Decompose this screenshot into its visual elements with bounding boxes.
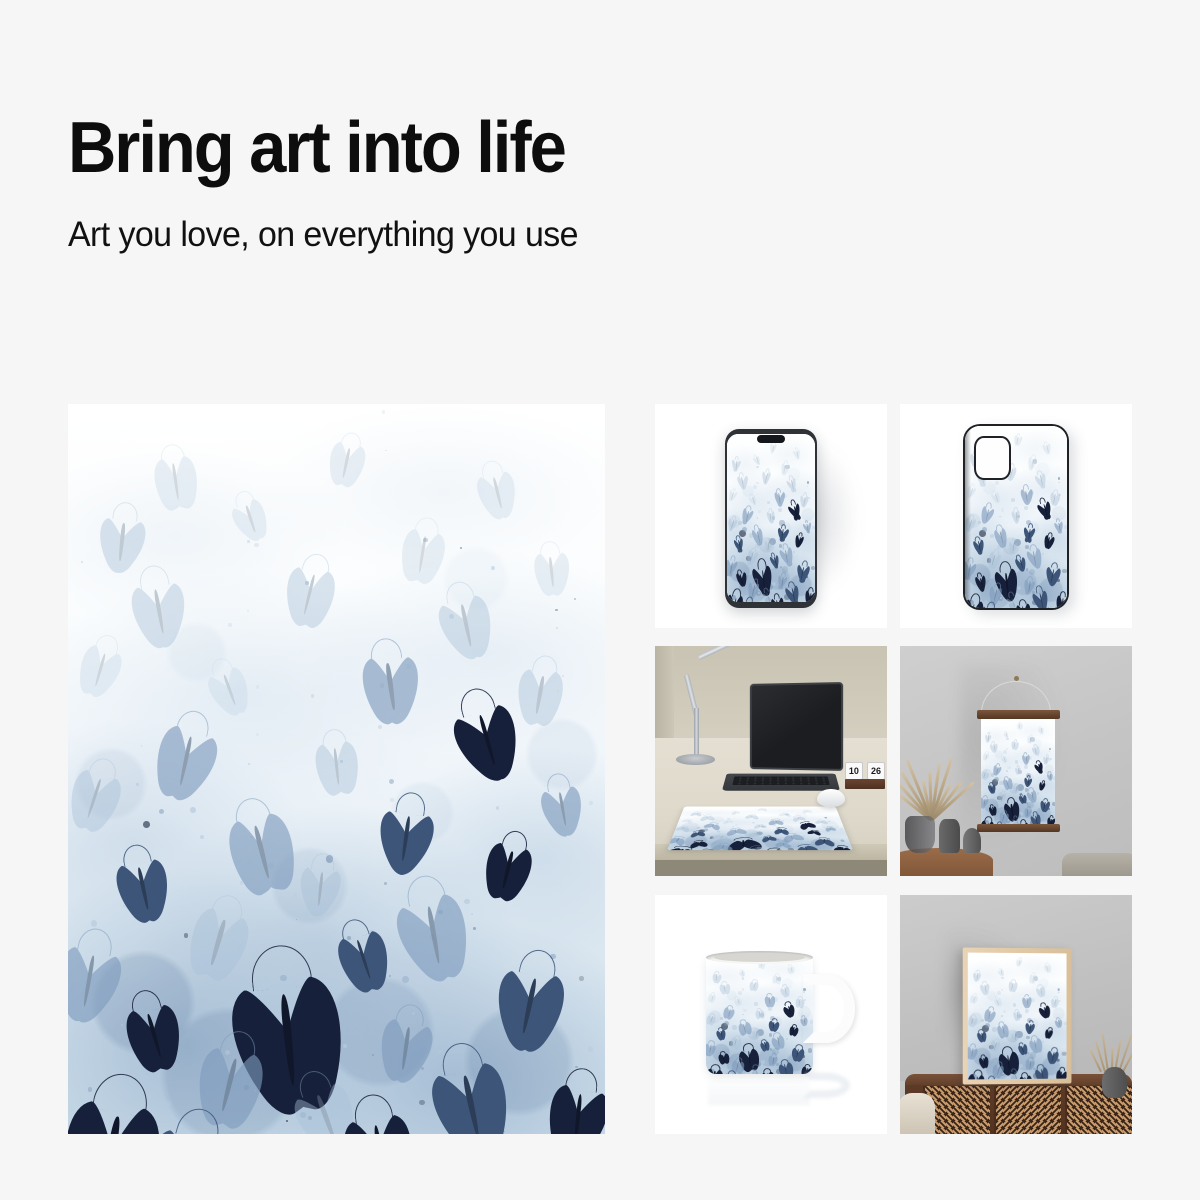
butterfly-artwork xyxy=(706,955,813,1075)
butterfly-motif xyxy=(715,1028,727,1040)
butterfly-motif xyxy=(823,827,838,831)
butterfly-motif xyxy=(374,802,439,872)
glass-vase xyxy=(905,816,935,853)
butterfly-motif xyxy=(752,824,767,828)
butterfly-motif xyxy=(778,833,803,841)
sofa-arm xyxy=(900,1093,935,1134)
butterfly-motif xyxy=(799,810,811,814)
poster-rail-top xyxy=(977,710,1060,719)
butterfly-motif xyxy=(1008,540,1017,553)
mockup-tile-framed-poster[interactable] xyxy=(900,895,1132,1134)
mockup-tile-desk-mat[interactable]: 10 26 xyxy=(655,646,887,876)
flip-calendar: 10 26 xyxy=(845,761,884,789)
butterfly-motif xyxy=(433,589,498,659)
dynamic-island xyxy=(757,435,785,443)
butterfly-motif xyxy=(711,972,721,982)
butterfly-motif xyxy=(736,1020,752,1035)
butterfly-motif xyxy=(1026,789,1038,802)
butterfly-motif xyxy=(1011,509,1021,523)
butterfly-motif xyxy=(530,548,572,594)
desk-mat-product xyxy=(667,807,853,851)
desk-scene: 10 26 xyxy=(655,646,887,876)
butterfly-motif xyxy=(1010,1032,1019,1041)
butterfly-motif xyxy=(789,816,806,821)
poster-sheet xyxy=(981,718,1055,825)
sofa xyxy=(1062,853,1132,876)
page-title: Bring art into life xyxy=(68,112,905,184)
phone-case xyxy=(963,424,1070,610)
butterfly-motif xyxy=(1013,785,1020,793)
framed-poster-product xyxy=(962,947,1071,1084)
butterfly-motif xyxy=(1017,1074,1032,1079)
ceramic-vase xyxy=(939,819,960,854)
mockup-grid: 10 26 xyxy=(655,404,1132,1134)
butterfly-artwork xyxy=(68,404,605,1134)
side-button xyxy=(1067,488,1069,504)
butterfly-motif xyxy=(356,648,424,721)
lamp-base xyxy=(676,754,715,765)
framed-poster-scene xyxy=(900,895,1132,1134)
butterfly-motif xyxy=(736,474,748,490)
page-subtitle: Art you love, on everything you use xyxy=(68,216,941,255)
butterfly-motif xyxy=(774,842,793,848)
hanging-poster-product xyxy=(981,710,1055,832)
butterfly-motif xyxy=(805,590,815,602)
hanging-poster-scene xyxy=(900,646,1132,876)
butterfly-motif xyxy=(774,491,786,507)
poster-rail-bottom xyxy=(977,824,1060,833)
butterfly-motif xyxy=(790,1045,806,1060)
butterfly-motif xyxy=(975,1030,987,1042)
butterfly-motif xyxy=(754,1009,764,1018)
butterfly-motif xyxy=(716,1051,730,1064)
butterfly-motif xyxy=(1006,979,1017,991)
butterfly-motif xyxy=(537,780,588,835)
butterfly-motif xyxy=(748,980,760,991)
ceramic-vase xyxy=(1102,1067,1128,1098)
butterfly-motif xyxy=(777,526,788,542)
under-desk-shadow xyxy=(655,860,887,876)
mug-product xyxy=(706,955,813,1075)
mockup-tile-phone-wallpaper[interactable] xyxy=(655,404,887,628)
butterfly-motif xyxy=(1043,1027,1054,1038)
butterfly-motif xyxy=(1028,974,1038,984)
laptop-keyboard xyxy=(722,774,840,791)
mug-handle xyxy=(803,974,854,1043)
butterfly-motif xyxy=(1033,1065,1050,1080)
mockup-tile-hanging-poster[interactable] xyxy=(900,646,1132,876)
calendar-month: 26 xyxy=(867,762,884,780)
butterfly-motif xyxy=(512,663,569,724)
butterfly-motif xyxy=(1021,754,1030,765)
butterfly-motif xyxy=(752,1030,761,1039)
butterfly-motif xyxy=(764,540,772,552)
butterfly-motif xyxy=(803,521,812,533)
mockup-tile-phone-case[interactable] xyxy=(900,404,1132,628)
mug-scene xyxy=(655,895,887,1134)
phone-scene xyxy=(655,404,887,628)
mug-reflection xyxy=(708,1074,810,1105)
butterfly-motif xyxy=(983,1007,997,1021)
lamp-stem xyxy=(694,708,699,756)
poster-sheet xyxy=(967,952,1066,1079)
dried-grass xyxy=(1097,1031,1125,1072)
phone-device xyxy=(725,429,818,608)
butterfly-motif xyxy=(767,1020,780,1032)
butterfly-motif xyxy=(1013,1010,1022,1020)
butterfly-motif xyxy=(149,452,201,509)
butterfly-motif xyxy=(1045,1048,1060,1064)
butterfly-motif xyxy=(968,993,978,1003)
calendar-day: 10 xyxy=(845,762,862,780)
mockup-tile-coffee-mug[interactable] xyxy=(655,895,887,1134)
hero-header: Bring art into life Art you love, on eve… xyxy=(68,112,968,255)
butterfly-motif xyxy=(1035,985,1047,997)
butterfly-motif xyxy=(95,511,149,570)
butterfly-motif xyxy=(771,974,781,984)
butterfly-motif xyxy=(1049,997,1059,1008)
butterfly-motif xyxy=(297,862,345,914)
case-edge xyxy=(965,426,971,608)
butterfly-motif xyxy=(770,1034,786,1050)
butterfly-motif xyxy=(1027,1036,1042,1052)
butterfly-motif xyxy=(1024,1021,1036,1033)
butterfly-motif xyxy=(777,1061,795,1074)
butterfly-motif xyxy=(1021,995,1033,1008)
butterfly-motif xyxy=(396,525,449,582)
camera-cutout-icon xyxy=(974,436,1011,480)
butterfly-motif xyxy=(766,819,785,824)
butterfly-motif xyxy=(731,459,740,472)
butterfly-motif xyxy=(831,846,852,850)
butterfly-motif xyxy=(718,983,731,995)
butterfly-motif xyxy=(978,982,990,995)
phone-screen xyxy=(727,434,814,602)
butterfly-motif xyxy=(1054,1018,1063,1027)
butterfly-motif xyxy=(1015,958,1023,967)
computer-mouse xyxy=(817,789,845,807)
butterfly-motif xyxy=(1054,520,1064,533)
butterfly-motif xyxy=(1055,1069,1066,1079)
butterfly-artwork xyxy=(667,807,853,851)
butterfly-motif xyxy=(1023,776,1032,786)
slat-panel xyxy=(994,1086,1061,1134)
pampas-grass xyxy=(900,756,960,820)
butterfly-motif xyxy=(1055,595,1067,608)
butterfly-motif xyxy=(788,1025,799,1036)
hero-artwork-tile[interactable] xyxy=(68,404,605,1134)
butterfly-motif xyxy=(1023,526,1036,543)
side-button xyxy=(1067,466,1069,482)
butterfly-motif xyxy=(989,743,998,753)
butterfly-motif xyxy=(987,784,996,794)
butterfly-artwork xyxy=(967,952,1066,1079)
butterfly-motif xyxy=(544,1080,605,1134)
butterfly-motif xyxy=(1020,487,1033,505)
butterfly-artwork xyxy=(981,718,1055,825)
butterfly-motif xyxy=(311,738,362,793)
phone-case-scene xyxy=(900,404,1132,628)
laptop-screen xyxy=(750,682,843,771)
product-gallery: 10 26 xyxy=(68,404,1132,1134)
butterfly-motif xyxy=(972,971,982,981)
butterfly-motif xyxy=(1026,735,1033,743)
butterfly-motif xyxy=(779,985,791,997)
butterfly-motif xyxy=(1015,767,1022,775)
mug-handle-reflection xyxy=(803,1072,849,1098)
butterfly-motif xyxy=(764,995,777,1007)
butterfly-motif xyxy=(767,511,776,523)
butterfly-motif xyxy=(698,815,715,820)
butterfly-artwork xyxy=(727,434,814,602)
butterfly-motif xyxy=(390,887,475,979)
butterfly-motif xyxy=(126,575,192,647)
butterfly-motif xyxy=(747,832,761,836)
calendar-base xyxy=(845,779,884,788)
butterfly-motif xyxy=(1026,547,1043,569)
